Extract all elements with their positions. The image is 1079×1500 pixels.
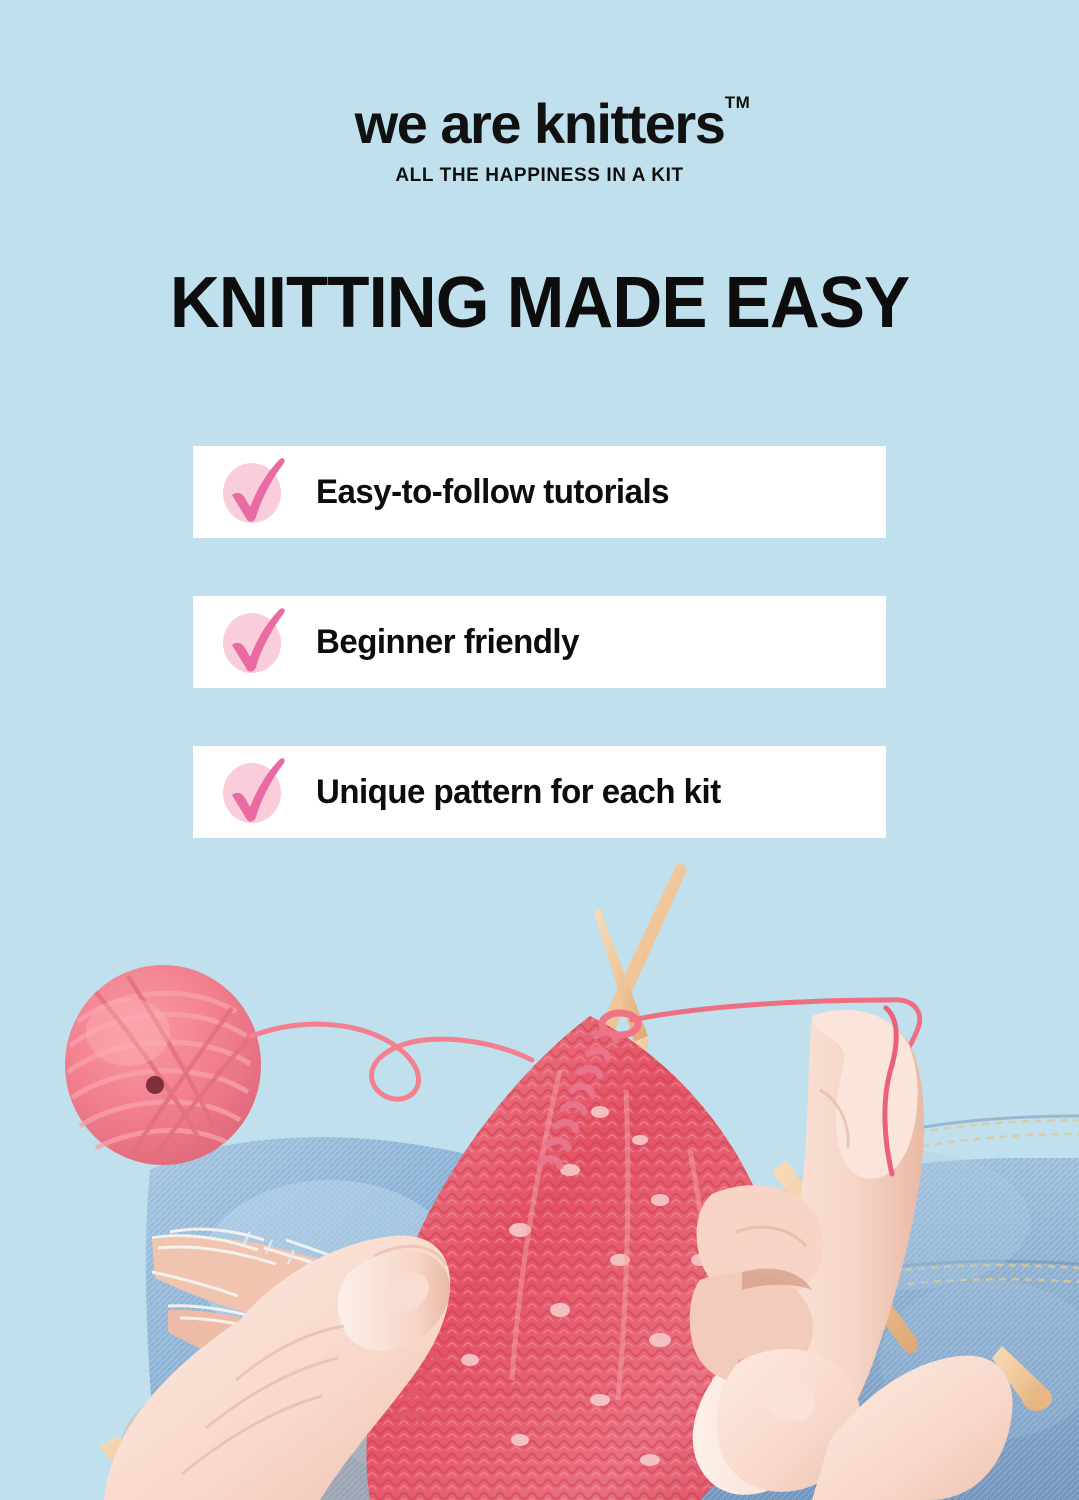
check-icon-mark	[220, 455, 290, 529]
feature-card-tutorials: Easy-to-follow tutorials	[193, 446, 886, 538]
feature-list: Easy-to-follow tutorials Beginner friend…	[193, 446, 886, 838]
yarn-ball	[65, 965, 261, 1165]
brand-tagline: ALL THE HAPPINESS IN A KIT	[0, 165, 1079, 187]
poster: we are knittersTM ALL THE HAPPINESS IN A…	[0, 0, 1079, 1500]
brand-name-text: we are knitters	[355, 92, 725, 155]
feature-label: Easy-to-follow tutorials	[316, 473, 669, 512]
check-icon	[220, 459, 286, 525]
feature-label: Beginner friendly	[316, 623, 579, 662]
brand-name: we are knittersTM	[355, 96, 725, 152]
knitting-photo	[0, 840, 1079, 1500]
check-icon-mark	[220, 605, 290, 679]
check-icon-mark	[220, 755, 290, 829]
feature-card-pattern: Unique pattern for each kit	[193, 746, 886, 838]
knitting-photo-illustration	[0, 840, 1079, 1500]
feature-label: Unique pattern for each kit	[316, 773, 721, 812]
brand-block: we are knittersTM ALL THE HAPPINESS IN A…	[0, 96, 1079, 187]
page-title: KNITTING MADE EASY	[22, 267, 1058, 339]
trademark-symbol: TM	[725, 94, 751, 111]
feature-card-beginner: Beginner friendly	[193, 596, 886, 688]
check-icon	[220, 759, 286, 825]
check-icon	[220, 609, 286, 675]
